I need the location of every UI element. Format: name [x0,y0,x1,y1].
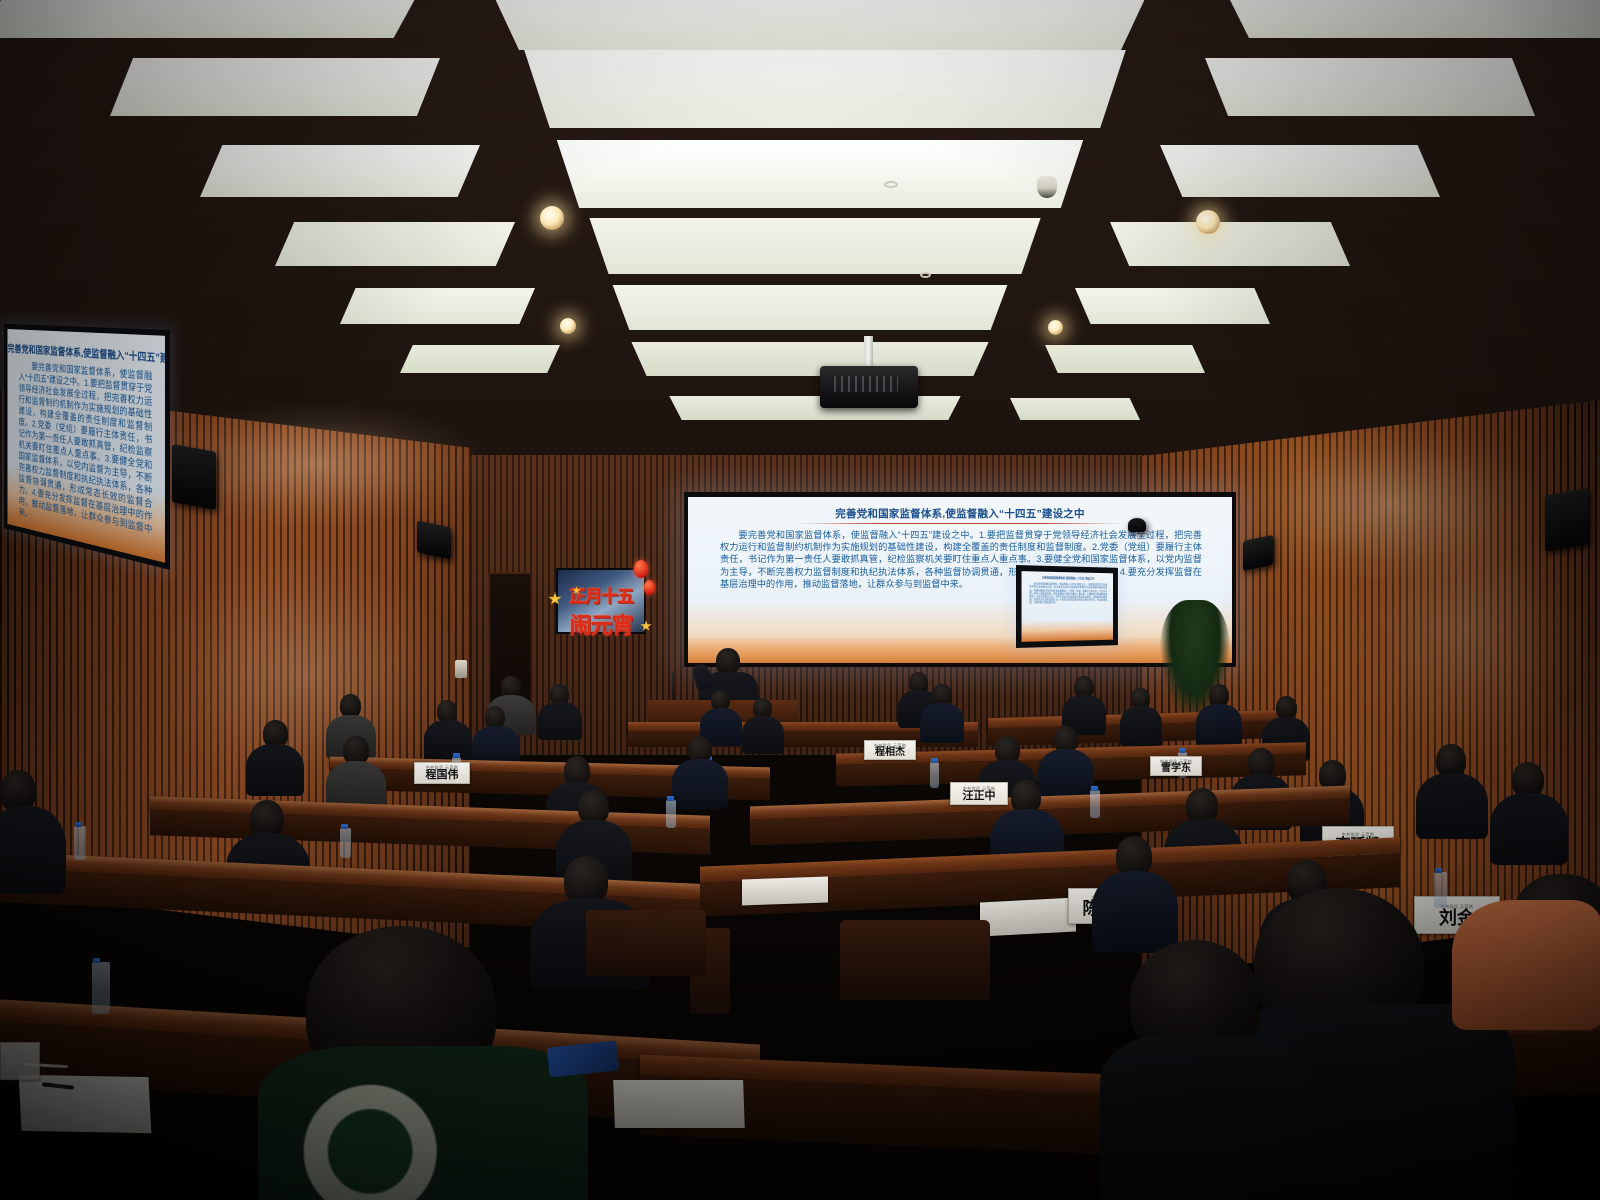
ceiling-light-panel [540,140,1100,208]
attendee [1416,744,1488,836]
sprinkler-icon [920,272,931,278]
microphone-icon [672,672,674,702]
ceiling-light-panel [200,145,480,197]
left-monitor-slide: 完善党和国家监督体系,使监督融入“十四五”建设之中 要完善党和国家监督体系，使监… [8,329,165,563]
water-bottle [930,762,939,788]
projector-mount-pole [864,336,873,370]
presenter-raised-hand [691,662,715,692]
slide-title: 完善党和国家监督体系,使监督融入“十四五”建设之中 [688,506,1232,521]
document-papers [742,876,828,905]
document-papers [19,1075,152,1133]
slide-body-text: 要完善党和国家监督体系，使监督融入“十四五”建设之中。1.要把监督贯穿于党领导经… [720,529,1202,590]
attendee-torso [1120,706,1162,746]
attendee-torso [246,744,304,796]
chair [840,920,990,1000]
festival-line2: 闹元宵 [558,608,644,640]
festival-line1: 正月十五 [558,582,644,607]
water-bottle [92,962,110,1014]
wall-speaker-icon [172,444,216,510]
attendee [742,698,784,750]
attendee [672,736,728,806]
ceiling-light-panel [1110,222,1350,266]
downlight [1048,320,1063,335]
ceiling-light-panel [620,342,1000,376]
wall-speaker-icon [1243,535,1273,571]
attendee [1196,684,1242,742]
attendee-torso [424,720,472,762]
ceiling-light-panel [600,285,1020,330]
attendee [258,926,588,1200]
right-wall-monitor: 完善党和国家监督体系,使监督融入“十四五”建设之中 要完善党和国家监督体系，使监… [1016,565,1118,648]
water-bottle [666,800,676,828]
ceiling-light-panel [1010,398,1140,420]
ceiling-light-panel [660,396,970,420]
downlight [560,318,576,334]
lantern-festival-display: 正月十五 闹元宵 [548,558,654,644]
left-wall-monitor: 完善党和国家监督体系,使监督融入“十四五”建设之中 要完善党和国家监督体系，使监… [4,324,170,570]
sprinkler-icon [884,181,898,188]
ceiling-light-panel [1160,145,1440,197]
right-monitor-slide: 完善党和国家监督体系,使监督融入“十四五”建设之中 要完善党和国家监督体系，使监… [1022,571,1114,642]
dome-camera-icon [1037,176,1057,198]
presenter-head [716,648,740,675]
ceiling-light-panel [340,288,535,324]
downlight [540,206,564,230]
document-papers [613,1080,745,1128]
slide-divider [797,523,1123,524]
attendee-torso [1452,900,1600,1030]
attendee-torso [1100,1036,1310,1200]
nameplate [0,1042,40,1080]
ceiling-light-panel [1205,58,1535,116]
attendee-torso [742,716,784,754]
presentation-slide: 完善党和国家监督体系,使监督融入“十四五”建设之中 要完善党和国家监督体系，使监… [688,497,1232,663]
ceiling-light-panel [110,58,440,116]
wall-speaker-icon [1545,488,1589,552]
attendee-coat [258,1046,588,1200]
attendee [472,706,520,764]
attendee-torso [920,703,964,743]
water-bottle [74,826,86,860]
nameplate-name: 程相杰 [875,748,905,758]
ceiling-light-panel [400,345,560,373]
attendee [700,690,742,742]
ceiling [0,0,1600,470]
ceiling-light-panel [575,218,1055,274]
nameplate: 中共党员 示范岗 雪学东 [1150,756,1202,776]
nameplate: 中共党员 示范岗 程相杰 [864,740,916,760]
left-monitor-slide-body: 要完善党和国家监督体系，使监督融入“十四五”建设之中。1.要把监督贯穿于党领导经… [19,361,153,550]
ceiling-light-panel [0,0,420,38]
document-papers [980,897,1076,936]
attendee-torso [1196,704,1242,746]
attendee-torso [1490,793,1568,865]
attendee [1452,874,1600,1104]
water-bottle [340,828,351,858]
slide-decoration [688,637,1232,663]
right-monitor-slide-body: 要完善党和国家监督体系，使监督融入“十四五”建设之中。1.要把监督贯穿于党领导经… [1029,583,1107,605]
nameplate-name: 程国伟 [426,770,459,781]
lantern-icon [644,580,655,595]
ceiling-light-panel [1225,0,1600,38]
ceiling-light-panel [470,0,1170,50]
attendee-torso [1416,773,1488,839]
attendee [246,720,304,792]
attendee [1490,762,1568,862]
attendee-torso [672,759,728,809]
attendee [538,684,582,736]
attendee [920,684,964,738]
ceiling-light-panel [1045,345,1205,373]
conference-room-photo: 完善党和国家监督体系,使监督融入“十四五”建设之中 要完善党和国家监督体系，使监… [0,0,1600,1200]
attendee [1120,688,1162,742]
ceiling-projector [820,366,918,408]
attendee [1100,940,1310,1200]
festival-screen: 正月十五 闹元宵 [556,568,646,634]
ceiling-light-panel [1075,288,1270,324]
ceiling-light-panel [505,50,1145,128]
attendee-torso [538,702,582,740]
downlight [1196,210,1220,234]
water-bottle [1090,790,1100,818]
wall-speaker-icon [1128,518,1146,532]
right-monitor-slide-title: 完善党和国家监督体系,使监督融入“十四五”建设之中 [1022,575,1114,581]
nameplate: 中共党员 示范岗 程国伟 [414,762,470,784]
attendee [326,736,386,812]
attendee-torso [0,806,66,894]
light-switch-icon[interactable] [455,660,467,678]
chair [586,910,706,976]
projection-screen: 完善党和国家监督体系,使监督融入“十四五”建设之中 要完善党和国家监督体系，使监… [684,492,1236,667]
attendee [0,770,70,890]
lantern-icon [634,560,648,578]
attendee [1092,836,1178,948]
ceiling-light-panel [275,222,515,266]
attendee [1062,676,1106,732]
nameplate-name: 雪学东 [1161,764,1191,774]
attendee [424,700,472,758]
